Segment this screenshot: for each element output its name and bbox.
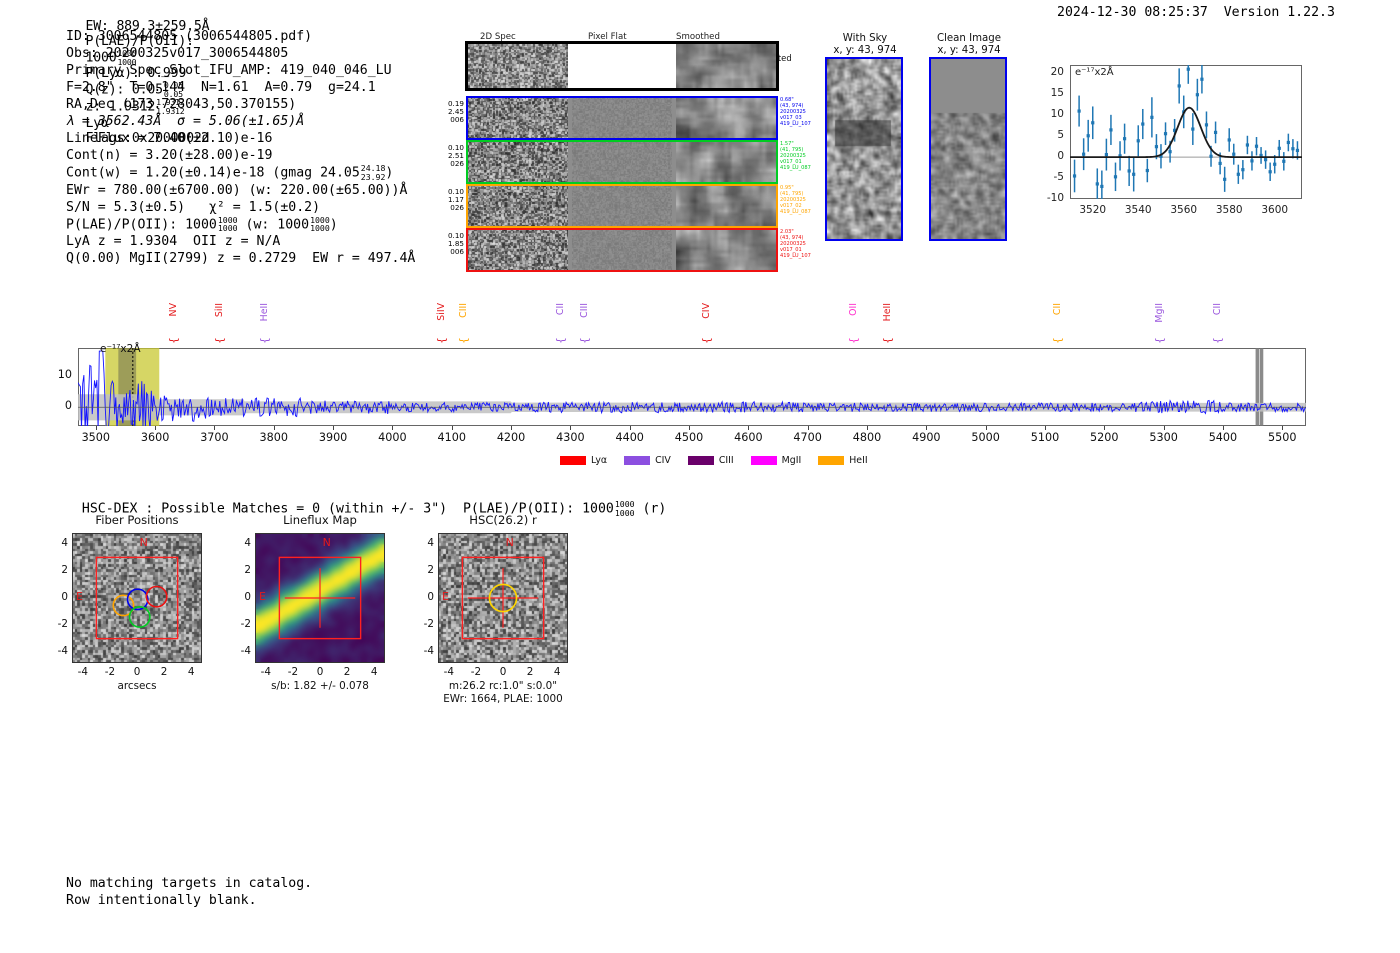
bottom-panel-overlay-2 [438, 533, 568, 663]
bottom-panel-2-xtick: -4 [435, 666, 463, 678]
linefit-units-annotation: e⁻¹⁷x2Å [1075, 67, 1114, 78]
emission-line-label-civ-7: CIV [701, 303, 712, 319]
fiber-1-pixelflat [572, 98, 672, 138]
compass-east-2: E [442, 590, 449, 603]
emission-line-brace-2: { [258, 337, 271, 344]
footer-line-2: Row intentionally blank. [66, 892, 312, 909]
bottom-panel-0-xtick: -4 [69, 666, 97, 678]
linefit-svg [1036, 57, 1308, 225]
weighted-sum-pixelflat [572, 44, 672, 88]
emission-line-label-heii-2: HeII [259, 303, 270, 321]
spectrum-xtick-mark [1104, 426, 1105, 430]
emission-line-brace-7: { [700, 337, 713, 344]
spectrum-xtick-mark [867, 426, 868, 430]
bottom-panel-0-xtick: 2 [150, 666, 178, 678]
bottom-panel-1-ytick: 4 [229, 537, 251, 549]
fiber-1-2dspec [468, 98, 568, 138]
spectrum-xtick: 4500 [667, 431, 711, 444]
linefit-ytick: -10 [1036, 192, 1064, 204]
spectrum-legend: LyαCIVCIIIMgIIHeII [560, 450, 885, 469]
linefit-xtick: 3560 [1167, 204, 1201, 216]
spectrum-xtick-mark [1282, 426, 1283, 430]
info-radec: RA,Dec (173.728043,50.370155) [66, 96, 415, 113]
spectrum-xtick-mark [452, 426, 453, 430]
hsc-ewr-plae-line: EWr: 1664, PLAE: 1000 [393, 693, 613, 706]
bottom-panel-1-xtick: -4 [252, 666, 280, 678]
fiber-2-2dspec [468, 142, 568, 182]
bottom-panel-1-xtick: 2 [333, 666, 361, 678]
linefit-xtick: 3580 [1212, 204, 1246, 216]
spectrum-xtick: 3500 [74, 431, 118, 444]
spectrum-xtick: 5000 [964, 431, 1008, 444]
info-ewr: EWr = 780.00(±6700.00) (w: 220.00(±65.00… [66, 182, 415, 199]
spectrum-xtick: 5100 [1023, 431, 1067, 444]
info-lambda-sigma: λ = 3562.43Å σ = 5.06(±1.65)Å [66, 113, 415, 130]
emission-line-label-cii-12: CII [1212, 303, 1223, 315]
spectrum-xtick-mark [511, 426, 512, 430]
spectrum-xtick-mark [630, 426, 631, 430]
bottom-panel-1-ytick: 0 [229, 591, 251, 603]
compass-north-2: N [506, 536, 514, 549]
emission-line-brace-12: { [1211, 337, 1224, 344]
emission-line-label-nv-0: NV [168, 303, 179, 316]
linefit-ytick: 10 [1036, 108, 1064, 120]
bottom-panel-0-xtick: 4 [177, 666, 205, 678]
fiber-2-pixelflat [572, 142, 672, 182]
hscdex-filter: (r) [643, 502, 667, 517]
spectrum-xtick-mark [570, 426, 571, 430]
legend-item-ciii: CIII [688, 455, 734, 466]
spectrum-xtick-mark [926, 426, 927, 430]
linefit-ytick: 0 [1036, 150, 1064, 162]
spectrum-xtick: 4800 [845, 431, 889, 444]
spectrum-xtick-mark [808, 426, 809, 430]
spectrum-units-annotation: e⁻¹⁷x2Å [100, 343, 141, 355]
legend-label-heii: HeII [849, 455, 867, 466]
bottom-panel-0-ytick: 0 [46, 591, 68, 603]
weighted-sum-2dspec [468, 44, 568, 88]
bottom-panel-2-caption: m:26.2 rc:1.0" s:0.0"EWr: 1664, PLAE: 10… [393, 680, 613, 706]
weighted-sum-smoothed [676, 44, 776, 88]
linefit-xtick: 3540 [1121, 204, 1155, 216]
emission-line-brace-10: { [1051, 337, 1064, 344]
linefit-xtick: 3600 [1258, 204, 1292, 216]
bottom-panel-0-ytick: 4 [46, 537, 68, 549]
emission-line-label-oii-8: OII [848, 303, 859, 316]
legend-item-mgii: MgII [751, 455, 802, 466]
spectrum-xtick: 5400 [1201, 431, 1245, 444]
legend-item-lyα: Lyα [560, 455, 607, 466]
emission-line-label-cii-10: CII [1052, 303, 1063, 315]
spectrum-svg [78, 348, 1306, 426]
spectrum-ytick: 0 [44, 399, 72, 412]
bottom-panel-2-ytick: 4 [412, 537, 434, 549]
bottom-panel-2-ytick: 0 [412, 591, 434, 603]
cutout-image-clean-image [931, 59, 1005, 239]
compass-north-0: N [140, 536, 148, 549]
cutout-image-with-sky [827, 59, 901, 239]
bottom-panel-1-xtick: 0 [306, 666, 334, 678]
info-plae: P(LAE)/P(OII): 100010001000 (w: 10001000… [66, 216, 415, 234]
spectrum-xtick: 4200 [489, 431, 533, 444]
info-lineflux: LineFlux = 7.40(±2.10)e-16 [66, 130, 415, 147]
spectrum-xtick-mark [1045, 426, 1046, 430]
spectrum-xtick: 3900 [311, 431, 355, 444]
spectrum-ytick: 10 [44, 368, 72, 381]
emission-line-label-siii-1: SiII [214, 303, 225, 317]
emission-line-label-cii-5: CII [555, 303, 566, 315]
emission-line-brace-3: { [435, 337, 448, 344]
emission-line-label-siiv-3: SiIV [436, 303, 447, 321]
line-fit-plot: 35203540356035803600-10-505101520e⁻¹⁷x2Å [1036, 57, 1308, 225]
spectrum-xtick-mark [689, 426, 690, 430]
fiber-4-smoothed [676, 230, 776, 270]
linefit-xtick: 3520 [1076, 204, 1110, 216]
emission-line-brace-1: { [213, 337, 226, 344]
bottom-panel-2-ytick: 2 [412, 564, 434, 576]
spectrum-xtick: 3600 [133, 431, 177, 444]
legend-swatch-ciii [688, 456, 714, 465]
fiber-3-stats: 0.101.17026 [440, 188, 464, 213]
bottom-panel-0-ytick: 2 [46, 564, 68, 576]
compass-east-0: E [76, 590, 83, 603]
linefit-ytick: 15 [1036, 87, 1064, 99]
legend-swatch-heii [818, 456, 844, 465]
bottom-panel-2-ytick: -2 [412, 618, 434, 630]
info-primary-spec: Primary Spec_Slot_IFU_AMP: 419_040_046_L… [66, 62, 415, 79]
spectrum-xtick-mark [214, 426, 215, 430]
footer-line-1: No matching targets in catalog. [66, 875, 312, 892]
legend-label-lyα: Lyα [591, 455, 607, 466]
source-info-block: ID: 3006544805 (3006544805.pdf) Obs: 202… [66, 28, 415, 267]
cutout-title-clean-image: Clean Imagex, y: 43, 974 [926, 33, 1012, 57]
info-continuum-narrow: Cont(n) = 3.20(±28.00)e-19 [66, 147, 415, 164]
emission-line-label-mgii-11: MgII [1154, 303, 1165, 323]
emission-line-brace-8: { [847, 337, 860, 344]
gmag-fraction: 24.1823.92 [361, 164, 386, 181]
bottom-panel-2-xtick: 0 [489, 666, 517, 678]
spectrum-xtick-mark [1223, 426, 1224, 430]
full-spectrum-plot: 0103500360037003800390040004100420043004… [78, 348, 1306, 426]
spectrum-xtick: 4600 [726, 431, 770, 444]
linefit-ytick: 20 [1036, 66, 1064, 78]
emission-line-label-heii-9: HeII [882, 303, 893, 321]
spectrum-xtick-mark [748, 426, 749, 430]
info-redshifts: LyA z = 1.9304 OII z = N/A [66, 233, 415, 250]
fiber-1-stats: 0.192.45006 [440, 100, 464, 125]
hsc-photometry-line: m:26.2 rc:1.0" s:0.0" [393, 680, 613, 693]
info-conditions: F=2.8" T=0.144 N=1.61 A=0.79 g=24.1 [66, 79, 415, 96]
emission-line-brace-9: { [881, 337, 894, 344]
timestamp-version: 2024-12-30 08:25:37 Version 1.22.3 [1057, 5, 1335, 20]
spectrum-xtick: 4400 [608, 431, 652, 444]
spectrum-xtick: 5200 [1082, 431, 1126, 444]
info-mgii: Q(0.00) MgII(2799) z = 0.2729 EW r = 497… [66, 250, 415, 267]
fiber-4-stats: 0.101.85006 [440, 232, 464, 257]
fiber-4-2dspec [468, 230, 568, 270]
spectrum-xtick: 4100 [430, 431, 474, 444]
info-continuum-wide: Cont(w) = 1.20(±0.14)e-18 (gmag 24.0524.… [66, 164, 415, 182]
fiber-3-smoothed [676, 186, 776, 226]
bottom-panel-2-ytick: -4 [412, 645, 434, 657]
info-snr-chi2: S/N = 5.3(±0.5) χ² = 1.5(±0.2) [66, 199, 415, 216]
footer-note: No matching targets in catalog. Row inte… [66, 875, 312, 909]
linefit-ytick: -5 [1036, 171, 1064, 183]
bottom-panel-overlay-0 [72, 533, 202, 663]
emission-line-brace-5: { [554, 337, 567, 344]
bottom-panel-0-xlabel: arcsecs [42, 680, 232, 693]
linefit-ytick: 5 [1036, 129, 1064, 141]
spectrum-xtick-mark [333, 426, 334, 430]
bottom-panel-0-ytick: -4 [46, 645, 68, 657]
spectrum-xtick-mark [96, 426, 97, 430]
spectrum-xtick-mark [155, 426, 156, 430]
bottom-panel-0-xtick: 0 [123, 666, 151, 678]
bottom-panel-2-xtick: 2 [516, 666, 544, 678]
bottom-panel-2-xtick: -2 [462, 666, 490, 678]
spectrum-xtick: 3800 [252, 431, 296, 444]
legend-label-civ: CIV [655, 455, 671, 466]
spectrum-xtick-mark [986, 426, 987, 430]
info-plae-fraction-a: 10001000 [218, 216, 238, 233]
bottom-panel-1-ytick: -4 [229, 645, 251, 657]
emission-line-brace-6: { [578, 337, 591, 344]
legend-swatch-lyα [560, 456, 586, 465]
info-id: ID: 3006544805 (3006544805.pdf) [66, 28, 415, 45]
fiber-3-2dspec [468, 186, 568, 226]
spectrum-xtick-mark [274, 426, 275, 430]
bottom-panel-1-ytick: -2 [229, 618, 251, 630]
spectrum-xtick: 4300 [548, 431, 592, 444]
legend-swatch-civ [624, 456, 650, 465]
spectrum-xtick: 4900 [904, 431, 948, 444]
bottom-panel-0-ytick: -2 [46, 618, 68, 630]
bottom-panel-overlay-1 [255, 533, 385, 663]
legend-item-civ: CIV [624, 455, 671, 466]
emission-line-brace-4: { [457, 337, 470, 344]
emission-line-brace-11: { [1153, 337, 1166, 344]
fiber-2-stats: 0.102.51026 [440, 144, 464, 169]
compass-north-1: N [323, 536, 331, 549]
spectrum-xtick: 5500 [1260, 431, 1304, 444]
spectrum-xtick: 5300 [1142, 431, 1186, 444]
spectrum-xtick-mark [392, 426, 393, 430]
legend-item-heii: HeII [818, 455, 867, 466]
emission-line-label-ciii-6: CIII [579, 303, 590, 318]
spectrum-xtick: 3700 [192, 431, 236, 444]
compass-east-1: E [259, 590, 266, 603]
legend-label-ciii: CIII [719, 455, 734, 466]
fiber-2-smoothed [676, 142, 776, 182]
legend-label-mgii: MgII [782, 455, 802, 466]
fiber-1-smoothed [676, 98, 776, 138]
spectrum-xtick: 4000 [370, 431, 414, 444]
spectrum-xtick-mark [1164, 426, 1165, 430]
emission-line-label-ciii-4: CIII [458, 303, 469, 318]
emission-line-brace-0: { [167, 337, 180, 344]
bottom-panel-0-xtick: -2 [96, 666, 124, 678]
legend-swatch-mgii [751, 456, 777, 465]
cutout-title-with-sky: With Skyx, y: 43, 974 [822, 33, 908, 57]
info-obs: Obs: 20200325v017_3006544805 [66, 45, 415, 62]
bottom-panel-title-2: HSC(26.2) r [388, 513, 618, 527]
spectrum-xtick: 4700 [786, 431, 830, 444]
bottom-panel-1-ytick: 2 [229, 564, 251, 576]
fiber-4-pixelflat [572, 230, 672, 270]
bottom-panel-1-xtick: -2 [279, 666, 307, 678]
bottom-panel-2-xtick: 4 [543, 666, 571, 678]
fiber-3-pixelflat [572, 186, 672, 226]
bottom-panel-1-xtick: 4 [360, 666, 388, 678]
twod-spectrum-panel: 2D Spec Pixel Flat Smoothed Weighted Sum… [440, 32, 770, 257]
info-plae-fraction-b: 10001000 [310, 216, 330, 233]
